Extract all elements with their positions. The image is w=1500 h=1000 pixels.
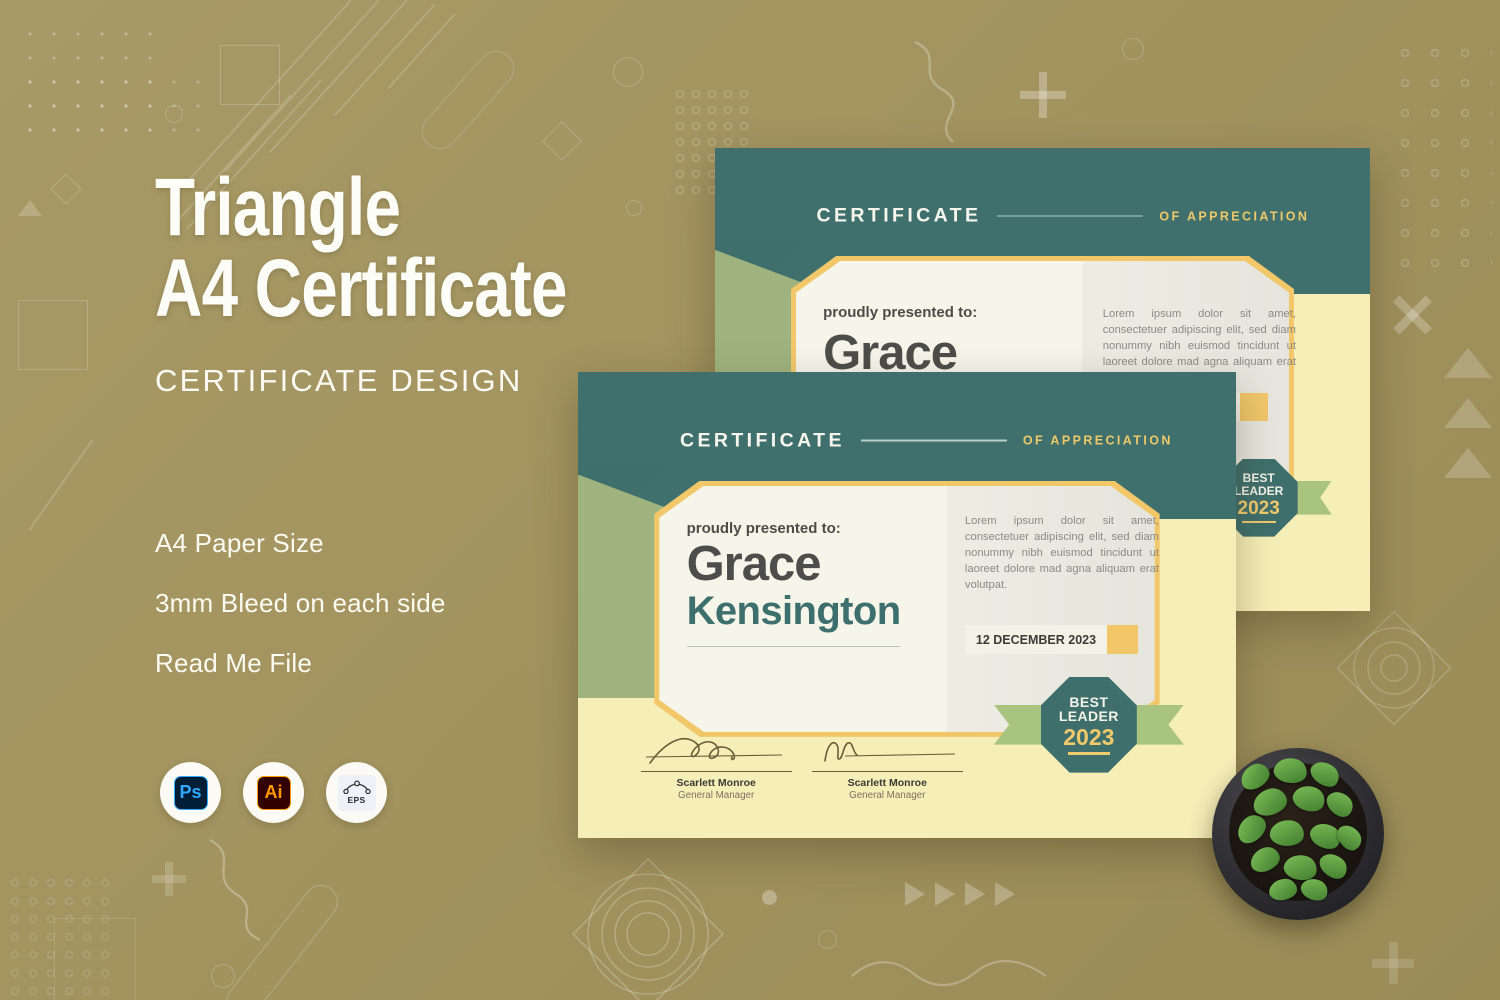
signature-mark-2-icon bbox=[815, 731, 960, 771]
headline-line-1: Triangle bbox=[155, 170, 499, 245]
diamond-outline-small bbox=[542, 121, 582, 161]
circle-outline-bottom-left bbox=[211, 964, 235, 988]
badge-octagon: BEST LEADER 2023 bbox=[1041, 677, 1137, 773]
circle-outline-bottom-center bbox=[818, 930, 837, 949]
circle-outline-upper-right bbox=[1122, 38, 1144, 60]
circle-outline-top bbox=[165, 105, 183, 123]
square-outline-bottom-left bbox=[54, 918, 136, 1000]
concentric-diamond-bottom bbox=[572, 858, 724, 1000]
lead-text-wrap-back: proudly presented to: Grace bbox=[823, 304, 977, 381]
lead-text: proudly presented to: bbox=[687, 520, 963, 537]
headline-line-2: A4 Certificate bbox=[155, 251, 499, 326]
date-value: 12 DECEMBER 2023 bbox=[965, 625, 1107, 654]
badge-year: 2023 bbox=[1063, 726, 1114, 749]
photoshop-badge[interactable]: Ps bbox=[160, 762, 221, 823]
date-accent-square-back bbox=[1240, 393, 1268, 421]
software-badges: Ps Ai EPS bbox=[160, 762, 387, 823]
stripe-capsule-outline bbox=[414, 43, 521, 156]
badge-underline bbox=[1068, 752, 1110, 754]
photoshop-icon: Ps bbox=[174, 776, 208, 810]
illustrator-icon: Ai bbox=[257, 776, 291, 810]
badge-line-1: BEST bbox=[1069, 695, 1108, 709]
lead-text-back: proudly presented to: bbox=[823, 304, 977, 321]
certificate-subtitle: OF APPRECIATION bbox=[1023, 434, 1173, 448]
eps-badge[interactable]: EPS bbox=[326, 762, 387, 823]
triangle-left-small bbox=[18, 200, 42, 216]
plus-bottom-left bbox=[152, 862, 186, 896]
recipient-last-name: Kensington bbox=[687, 590, 963, 632]
triangle-right-3 bbox=[1444, 448, 1492, 478]
signature-block-1: Scarlett Monroe General Manager bbox=[641, 731, 792, 801]
badge-line-2: LEADER bbox=[1059, 709, 1119, 723]
bezier-curve-icon bbox=[343, 780, 371, 794]
date-accent-square bbox=[1107, 625, 1138, 654]
illustrator-badge[interactable]: Ai bbox=[243, 762, 304, 823]
recipient-first-name: Grace bbox=[687, 540, 963, 590]
slash-left-mid bbox=[29, 439, 94, 530]
poster-stage: Triangle A4 Certificate CERTIFICATE DESI… bbox=[0, 0, 1500, 1000]
recipient-underline bbox=[687, 646, 900, 647]
signature-name-1: Scarlett Monroe bbox=[641, 777, 792, 789]
x-mark-right bbox=[1392, 295, 1432, 335]
squiggle-bottom-left bbox=[200, 836, 310, 946]
ring-grid-right bbox=[1390, 38, 1492, 283]
feature-item: 3mm Bleed on each side bbox=[155, 588, 446, 619]
signature-mark-1-icon bbox=[644, 731, 789, 771]
dot-grid-top-left-extra bbox=[18, 70, 218, 150]
subheadline: CERTIFICATE DESIGN bbox=[155, 363, 585, 399]
certificate-title-row: CERTIFICATE OF APPRECIATION bbox=[578, 429, 1236, 452]
signature-block-2: Scarlett Monroe General Manager bbox=[812, 731, 963, 801]
squiggle-top bbox=[905, 38, 985, 148]
feature-list: A4 Paper Size 3mm Bleed on each side Rea… bbox=[155, 528, 446, 708]
left-text-panel: Triangle A4 Certificate CERTIFICATE DESI… bbox=[155, 170, 585, 399]
certificate-title-back: CERTIFICATE bbox=[817, 205, 982, 228]
badge-year-back: 2023 bbox=[1238, 499, 1280, 518]
certificate-subtitle-back: OF APPRECIATION bbox=[1159, 209, 1309, 223]
concentric-diamond-right bbox=[1334, 608, 1454, 728]
circle-outline-mid-top bbox=[613, 57, 643, 87]
title-divider bbox=[861, 440, 1007, 441]
triangle-right-2 bbox=[1444, 398, 1492, 428]
triangle-right-1 bbox=[1444, 348, 1492, 378]
certificate-front[interactable]: CERTIFICATE OF APPRECIATION proudly pres… bbox=[578, 372, 1236, 838]
signature-name-2: Scarlett Monroe bbox=[812, 777, 963, 789]
plus-top bbox=[1020, 72, 1066, 118]
signature-role-2: General Manager bbox=[812, 790, 963, 801]
certificate-title: CERTIFICATE bbox=[680, 429, 845, 452]
date-chip: 12 DECEMBER 2023 bbox=[965, 625, 1138, 654]
title-divider-back bbox=[997, 215, 1143, 216]
square-outline-top bbox=[220, 45, 280, 105]
award-badge: BEST LEADER 2023 bbox=[996, 673, 1182, 777]
feature-item: A4 Paper Size bbox=[155, 528, 446, 559]
diamond-outline-left bbox=[50, 173, 81, 204]
capsule-outline-bottom-left bbox=[219, 878, 344, 1000]
plus-bottom-right bbox=[1372, 942, 1414, 984]
dot-grid-top-left bbox=[18, 22, 168, 152]
certificate-title-row-back: CERTIFICATE OF APPRECIATION bbox=[715, 205, 1370, 228]
chevrons-bottom bbox=[905, 882, 1085, 906]
wave-bottom bbox=[850, 952, 1050, 988]
ring-grid-bottom-left bbox=[6, 874, 114, 1000]
eps-icon: EPS bbox=[338, 775, 376, 811]
feature-item: Read Me File bbox=[155, 648, 446, 679]
body-text: Lorem ipsum dolor sit amet, consectetuer… bbox=[965, 514, 1159, 594]
circle-outline-small-top bbox=[626, 200, 642, 216]
badge-line-2-back: LEADER bbox=[1234, 485, 1283, 497]
dot-filled-bottom bbox=[762, 890, 777, 905]
recipient-block: proudly presented to: Grace Kensington bbox=[687, 520, 963, 647]
square-outline-left-mid bbox=[18, 300, 88, 370]
potted-plant bbox=[1212, 748, 1384, 920]
eps-label: EPS bbox=[348, 795, 366, 805]
badge-underline-back bbox=[1242, 521, 1276, 523]
signature-role-1: General Manager bbox=[641, 790, 792, 801]
